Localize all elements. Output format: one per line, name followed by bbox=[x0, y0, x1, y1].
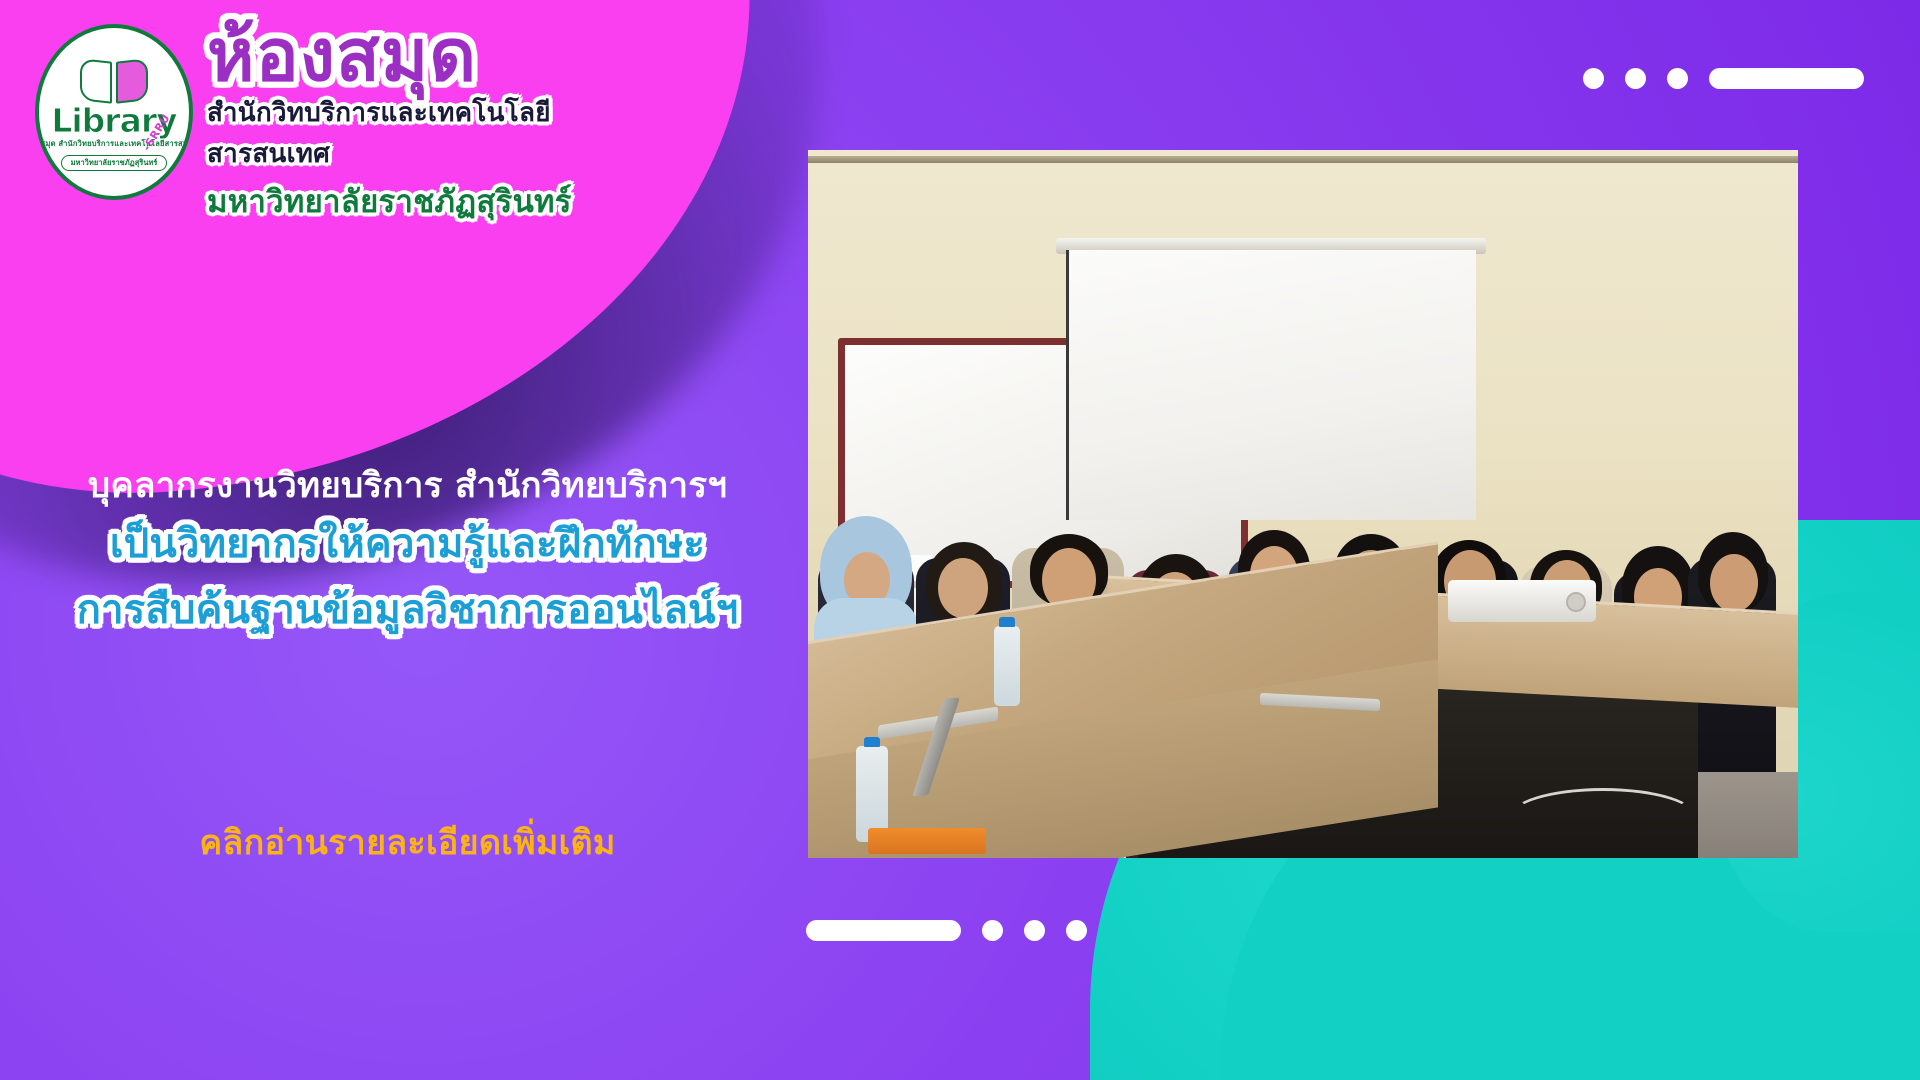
pagination-dot[interactable] bbox=[1625, 68, 1646, 89]
brand-logo[interactable]: Library -SRRU ห้องสมุด สำนักวิทยบริการแล… bbox=[35, 22, 655, 204]
pagination-active-bar[interactable] bbox=[806, 920, 961, 941]
photo-ceiling-rail bbox=[808, 156, 1798, 163]
slide-photo bbox=[808, 150, 1798, 858]
pagination-dot[interactable] bbox=[1024, 920, 1045, 941]
photo-bottle-upper bbox=[994, 626, 1020, 706]
pagination-dot[interactable] bbox=[1066, 920, 1087, 941]
brand-subtitle-office: สำนักวิทบริการและเทคโนโลยีสารสนเทศ bbox=[207, 92, 657, 174]
photo-projector bbox=[1448, 580, 1596, 622]
photo-orange-box bbox=[868, 828, 986, 854]
pagination-top[interactable] bbox=[1583, 68, 1864, 89]
pagination-dot[interactable] bbox=[982, 920, 1003, 941]
photo-floor-cable bbox=[1508, 788, 1698, 848]
open-book-icon bbox=[80, 60, 148, 102]
photo-conference-table bbox=[808, 596, 1798, 858]
slide-banner: Library -SRRU ห้องสมุด สำนักวิทยบริการแล… bbox=[0, 0, 1920, 1080]
pagination-dot[interactable] bbox=[1583, 68, 1604, 89]
pagination-active-bar[interactable] bbox=[1709, 68, 1864, 89]
pagination-dot[interactable] bbox=[1667, 68, 1688, 89]
library-badge-icon: Library -SRRU ห้องสมุด สำนักวิทยบริการแล… bbox=[35, 24, 193, 200]
logo-badge-pill: มหาวิทยาลัยราชภัฏสุรินทร์ bbox=[61, 155, 168, 171]
headline-line-1: บุคลากรงานวิทยบริการ สำนักวิทยบริการฯ bbox=[0, 465, 815, 508]
brand-subtitle-university: มหาวิทยาลัยราชภัฏสุรินทร์ bbox=[207, 176, 657, 226]
brand-text-block: ห้องสมุด สำนักวิทบริการและเทคโนโลยีสารสน… bbox=[207, 22, 657, 226]
headline-line-3: การสืบค้นฐานข้อมูลวิชาการออนไลน์ฯ bbox=[0, 584, 815, 636]
read-more-link[interactable]: คลิกอ่านรายละเอียดเพิ่มเติม bbox=[0, 815, 815, 869]
pagination-bottom[interactable] bbox=[806, 920, 1087, 941]
headline-block: บุคลากรงานวิทยบริการ สำนักวิทยบริการฯ เป… bbox=[0, 465, 815, 636]
brand-title: ห้องสมุด bbox=[207, 22, 657, 88]
headline-line-2: เป็นวิทยากรให้ความรู้และฝึกทักษะ bbox=[0, 518, 815, 570]
